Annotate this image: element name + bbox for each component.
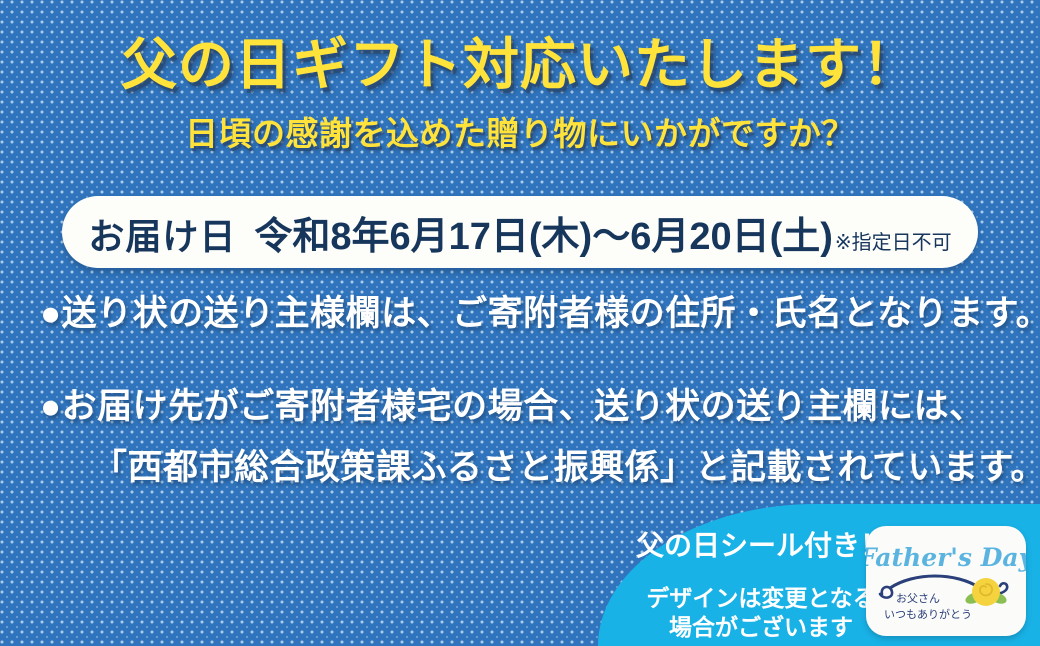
banner-subheadline: 日頃の感謝を込めた贈り物にいかがですか？	[0, 107, 1040, 155]
delivery-date-note: ※指定日不可	[835, 226, 952, 255]
note-item-donor-address-line2: 「西都市総合政策課ふるさと振興係」と記載されています。	[40, 450, 1020, 485]
sticker-swirl-arc-icon	[890, 576, 980, 588]
sticker-script-title-text: Father's Day	[866, 543, 1026, 572]
fathers-day-sticker: Father's Day お父さん いつもありがとう	[866, 526, 1026, 636]
seal-callout-text: 父の日シール付き！ デザインは変更となる 場合がございます	[636, 524, 886, 642]
fathers-day-sticker-artwork: Father's Day お父さん いつもありがとう	[866, 526, 1026, 636]
sticker-jp-line2: いつもありがとう	[884, 607, 972, 621]
seal-callout-title: 父の日シール付き！	[636, 524, 886, 564]
delivery-date-label: お届け日	[88, 208, 236, 260]
banner-headline: 父の日ギフト対応いたします！	[0, 34, 1040, 97]
note-item-sender-field: ●送り状の送り主様欄は、ご寄附者様の住所・氏名となります。	[40, 296, 1020, 331]
delivery-date-value: 令和8年6月17日(木)～6月20日(土)	[254, 205, 833, 260]
delivery-date-inner: お届け日 令和8年6月17日(木)～6月20日(土) ※指定日不可	[88, 205, 951, 260]
sticker-rose-icon	[972, 578, 1000, 606]
headline-block: 父の日ギフト対応いたします！ 日頃の感謝を込めた贈り物にいかがですか？	[0, 34, 1040, 155]
seal-callout-subtext-line1: デザインは変更となる	[636, 584, 886, 613]
seal-callout-subtext-line2: 場合がございます	[636, 613, 886, 642]
fathers-day-gift-banner: 父の日ギフト対応いたします！ 日頃の感謝を込めた贈り物にいかがですか？ お届け日…	[0, 0, 1040, 646]
seal-callout-subtext: デザインは変更となる 場合がございます	[636, 584, 886, 642]
notes-block: ●送り状の送り主様欄は、ご寄附者様の住所・氏名となります。 ●お届け先がご寄附者…	[40, 296, 1020, 485]
sticker-jp-line1: お父さん	[896, 592, 940, 605]
delivery-date-pill: お届け日 令和8年6月17日(木)～6月20日(土) ※指定日不可	[62, 196, 978, 268]
note-item-donor-address-line1: ●お届け先がご寄附者様宅の場合、送り状の送り主欄には、	[40, 389, 1020, 424]
